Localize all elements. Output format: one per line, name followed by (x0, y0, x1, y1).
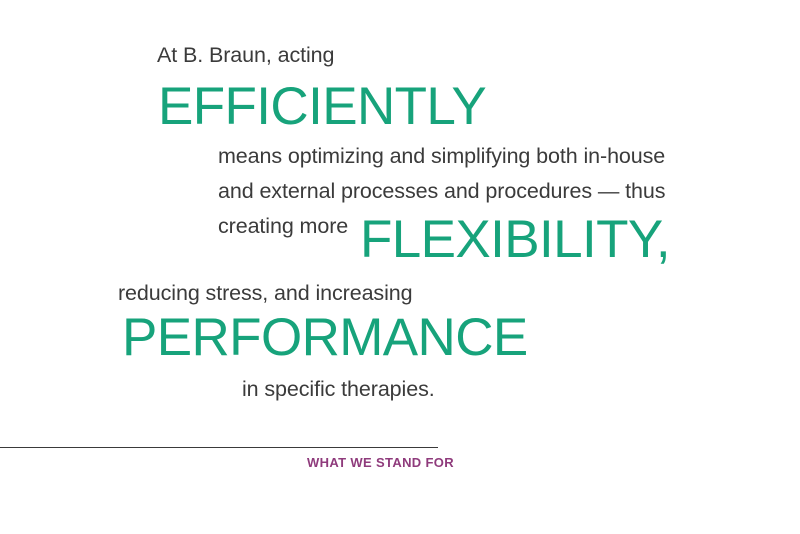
statement-line-therapies: in specific therapies. (242, 379, 435, 401)
footer-caption: WHAT WE STAND FOR (307, 455, 454, 470)
statement-line-external: and external processes and procedures — … (218, 181, 665, 203)
statement-line-creating: creating more (218, 216, 348, 238)
statement-headline-performance: PERFORMANCE (122, 311, 528, 364)
statement-headline-efficiently: EFFICIENTLY (158, 80, 486, 133)
statement-headline-flexibility: FLEXIBILITY, (360, 213, 670, 266)
page-canvas: At B. Braun, acting EFFICIENTLY means op… (0, 0, 800, 534)
footer-divider (0, 447, 438, 448)
statement-line-reducing: reducing stress, and increasing (118, 283, 412, 305)
statement-line-intro: At B. Braun, acting (157, 45, 334, 67)
statement-line-means: means optimizing and simplifying both in… (218, 146, 665, 168)
